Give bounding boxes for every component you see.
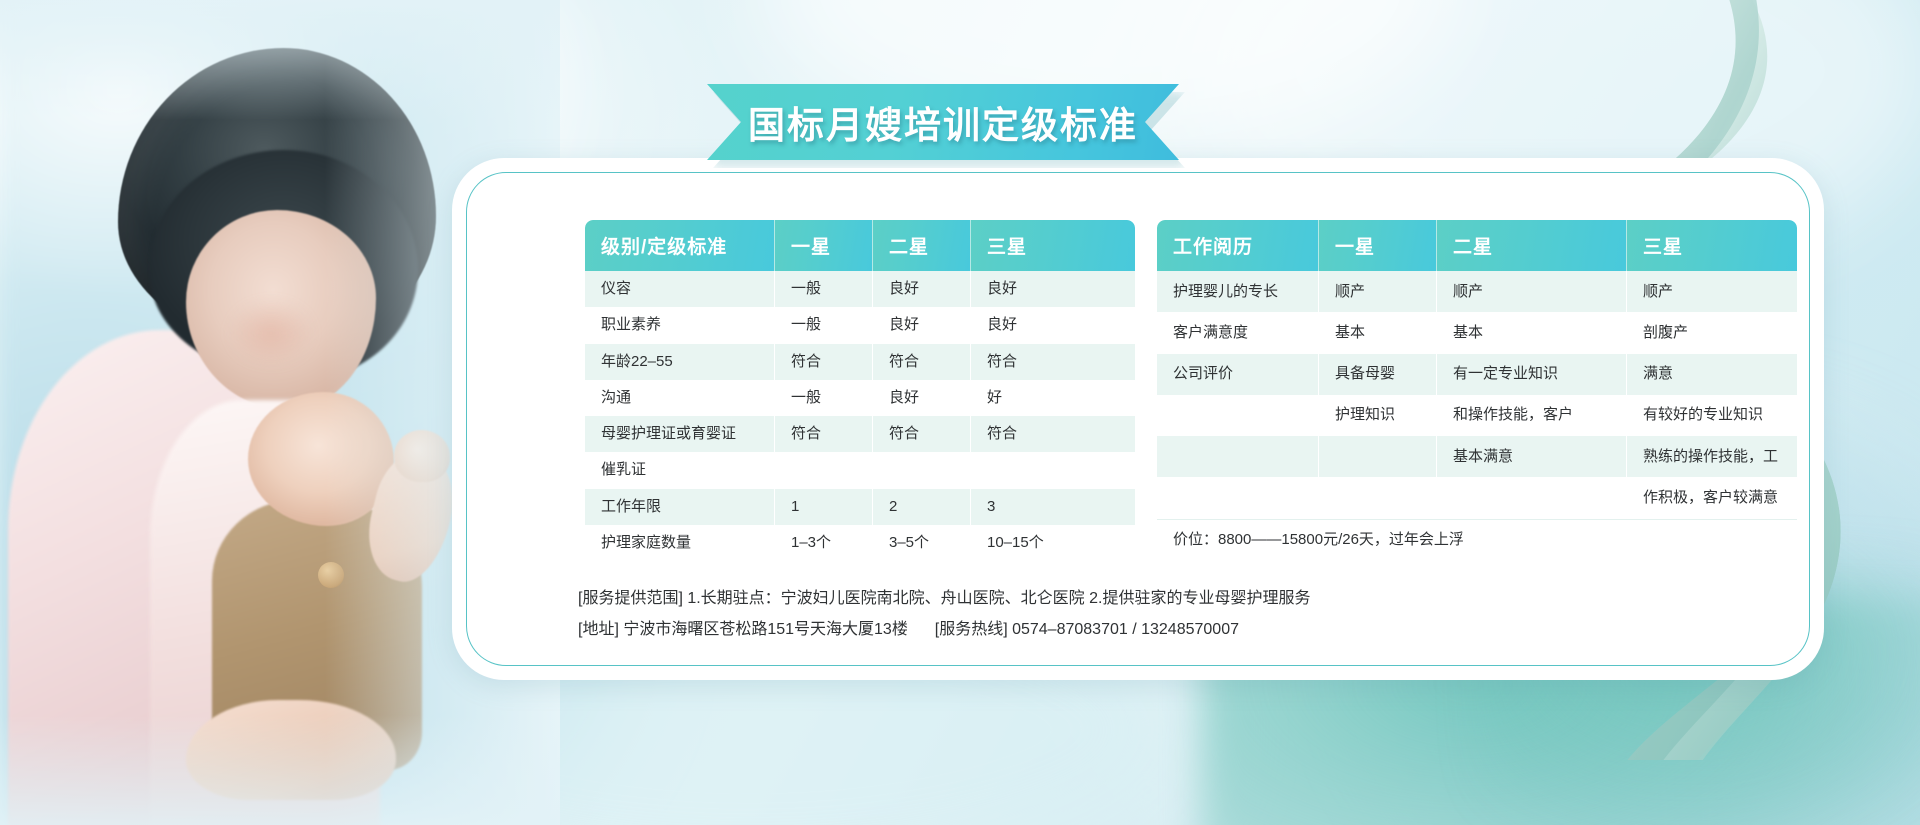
cell-three-star: 作积极，客户较满意 xyxy=(1627,477,1797,518)
work-experience-table: 工作阅历 一星 二星 三星 护理婴儿的专长 顺产 顺产 顺产 客户满意度 基本 … xyxy=(1157,220,1797,561)
cell-criteria: 职业素养 xyxy=(585,307,775,343)
cell-one-star: 具备母婴 xyxy=(1319,354,1437,395)
column-header-one-star: 一星 xyxy=(1319,220,1437,271)
table-row: 母婴护理证或育婴证 符合 符合 符合 xyxy=(585,416,1135,452)
grading-standards-table: 级别/定级标准 一星 二星 三星 仪容 一般 良好 良好 职业素养 一般 良好 xyxy=(585,220,1135,561)
cell-one-star: 护理知识 xyxy=(1319,395,1437,436)
cell-two-star: 顺产 xyxy=(1437,271,1627,312)
cell-three-star: 顺产 xyxy=(1627,271,1797,312)
cell-three-star: 有较好的专业知识 xyxy=(1627,395,1797,436)
cell-three-star: 符合 xyxy=(971,416,1135,452)
hotline-text: [服务热线] 0574–87083701 / 13248570007 xyxy=(935,621,1239,638)
cell-three-star: 3 xyxy=(971,489,1135,525)
cell-two-star xyxy=(873,452,971,488)
cell-three-star: 熟练的操作技能，工 xyxy=(1627,436,1797,477)
cell-two-star: 基本满意 xyxy=(1437,436,1627,477)
cell-criteria: 母婴护理证或育婴证 xyxy=(585,416,775,452)
cell-three-star: 良好 xyxy=(971,271,1135,307)
footer-notes: [服务提供范围] 1.长期驻点：宁波妇儿医院南北院、舟山医院、北仑医院 2.提供… xyxy=(578,583,1798,645)
table-row: 仪容 一般 良好 良好 xyxy=(585,271,1135,307)
table-row: 职业素养 一般 良好 良好 xyxy=(585,307,1135,343)
cell-one-star: 1–3个 xyxy=(775,525,873,561)
table-row: 护理婴儿的专长 顺产 顺产 顺产 xyxy=(1157,271,1797,312)
cell-experience: 护理婴儿的专长 xyxy=(1157,271,1319,312)
cell-experience xyxy=(1157,436,1319,477)
cell-one-star: 一般 xyxy=(775,271,873,307)
table-row: 沟通 一般 良好 好 xyxy=(585,380,1135,416)
banner-ribbon: 国标月嫂培训定级标准 xyxy=(707,84,1179,160)
cell-one-star: 一般 xyxy=(775,380,873,416)
cell-three-star: 符合 xyxy=(971,344,1135,380)
cell-experience xyxy=(1157,477,1319,518)
cell-one-star xyxy=(1319,477,1437,518)
cell-one-star: 一般 xyxy=(775,307,873,343)
photo-edge-fade xyxy=(0,715,560,825)
table-row: 作积极，客户较满意 xyxy=(1157,477,1797,518)
price-row: 价位：8800——15800元/26天，过年会上浮 xyxy=(1157,519,1797,561)
cell-two-star: 3–5个 xyxy=(873,525,971,561)
cell-one-star: 顺产 xyxy=(1319,271,1437,312)
table-row: 年龄22–55 符合 符合 符合 xyxy=(585,344,1135,380)
cell-one-star: 符合 xyxy=(775,344,873,380)
address-text: [地址] 宁波市海曙区苍松路151号天海大厦13楼 xyxy=(578,621,908,638)
column-header-experience: 工作阅历 xyxy=(1157,220,1319,271)
cell-three-star: 满意 xyxy=(1627,354,1797,395)
cell-three-star: 剖腹产 xyxy=(1627,312,1797,353)
column-header-one-star: 一星 xyxy=(775,220,873,271)
cell-criteria: 护理家庭数量 xyxy=(585,525,775,561)
cell-two-star: 良好 xyxy=(873,307,971,343)
poster-stage: 国标月嫂培训定级标准 级别/定级标准 一星 二星 三星 仪容 一般 良好 xyxy=(0,0,1920,825)
cell-one-star: 1 xyxy=(775,489,873,525)
cell-two-star: 符合 xyxy=(873,416,971,452)
table-row: 客户满意度 基本 基本 剖腹产 xyxy=(1157,312,1797,353)
cell-experience: 公司评价 xyxy=(1157,354,1319,395)
photo-edge-fade xyxy=(0,0,560,120)
cell-three-star xyxy=(971,452,1135,488)
cell-two-star: 符合 xyxy=(873,344,971,380)
table-row: 基本满意 熟练的操作技能，工 xyxy=(1157,436,1797,477)
table-header-row: 工作阅历 一星 二星 三星 xyxy=(1157,220,1797,271)
cell-experience: 客户满意度 xyxy=(1157,312,1319,353)
cell-criteria: 工作年限 xyxy=(585,489,775,525)
cell-criteria: 催乳证 xyxy=(585,452,775,488)
column-header-two-star: 二星 xyxy=(873,220,971,271)
cell-three-star: 良好 xyxy=(971,307,1135,343)
column-header-two-star: 二星 xyxy=(1437,220,1627,271)
cell-experience xyxy=(1157,395,1319,436)
cell-two-star: 良好 xyxy=(873,380,971,416)
table-row: 公司评价 具备母婴 有一定专业知识 满意 xyxy=(1157,354,1797,395)
table-row: 护理知识 和操作技能，客户 有较好的专业知识 xyxy=(1157,395,1797,436)
column-header-three-star: 三星 xyxy=(971,220,1135,271)
column-header-three-star: 三星 xyxy=(1627,220,1797,271)
service-scope-note: [服务提供范围] 1.长期驻点：宁波妇儿医院南北院、舟山医院、北仑医院 2.提供… xyxy=(578,583,1798,614)
cell-two-star: 2 xyxy=(873,489,971,525)
cell-two-star: 良好 xyxy=(873,271,971,307)
cell-two-star: 和操作技能，客户 xyxy=(1437,395,1627,436)
cell-two-star xyxy=(1437,477,1627,518)
table-row: 工作年限 1 2 3 xyxy=(585,489,1135,525)
page-title: 国标月嫂培训定级标准 xyxy=(707,84,1179,160)
table-row: 催乳证 xyxy=(585,452,1135,488)
cell-one-star: 基本 xyxy=(1319,312,1437,353)
table-row: 护理家庭数量 1–3个 3–5个 10–15个 xyxy=(585,525,1135,561)
cell-criteria: 仪容 xyxy=(585,271,775,307)
cell-three-star: 好 xyxy=(971,380,1135,416)
cell-two-star: 有一定专业知识 xyxy=(1437,354,1627,395)
cell-one-star xyxy=(1319,436,1437,477)
cell-one-star xyxy=(775,452,873,488)
cell-criteria: 沟通 xyxy=(585,380,775,416)
cell-criteria: 年龄22–55 xyxy=(585,344,775,380)
price-note: 价位：8800——15800元/26天，过年会上浮 xyxy=(1157,519,1797,561)
table-header-row: 级别/定级标准 一星 二星 三星 xyxy=(585,220,1135,271)
tables-container: 级别/定级标准 一星 二星 三星 仪容 一般 良好 良好 职业素养 一般 良好 xyxy=(585,220,1800,561)
cell-three-star: 10–15个 xyxy=(971,525,1135,561)
cell-two-star: 基本 xyxy=(1437,312,1627,353)
cell-one-star: 符合 xyxy=(775,416,873,452)
contact-note: [地址] 宁波市海曙区苍松路151号天海大厦13楼 [服务热线] 0574–87… xyxy=(578,614,1798,645)
column-header-criteria: 级别/定级标准 xyxy=(585,220,775,271)
